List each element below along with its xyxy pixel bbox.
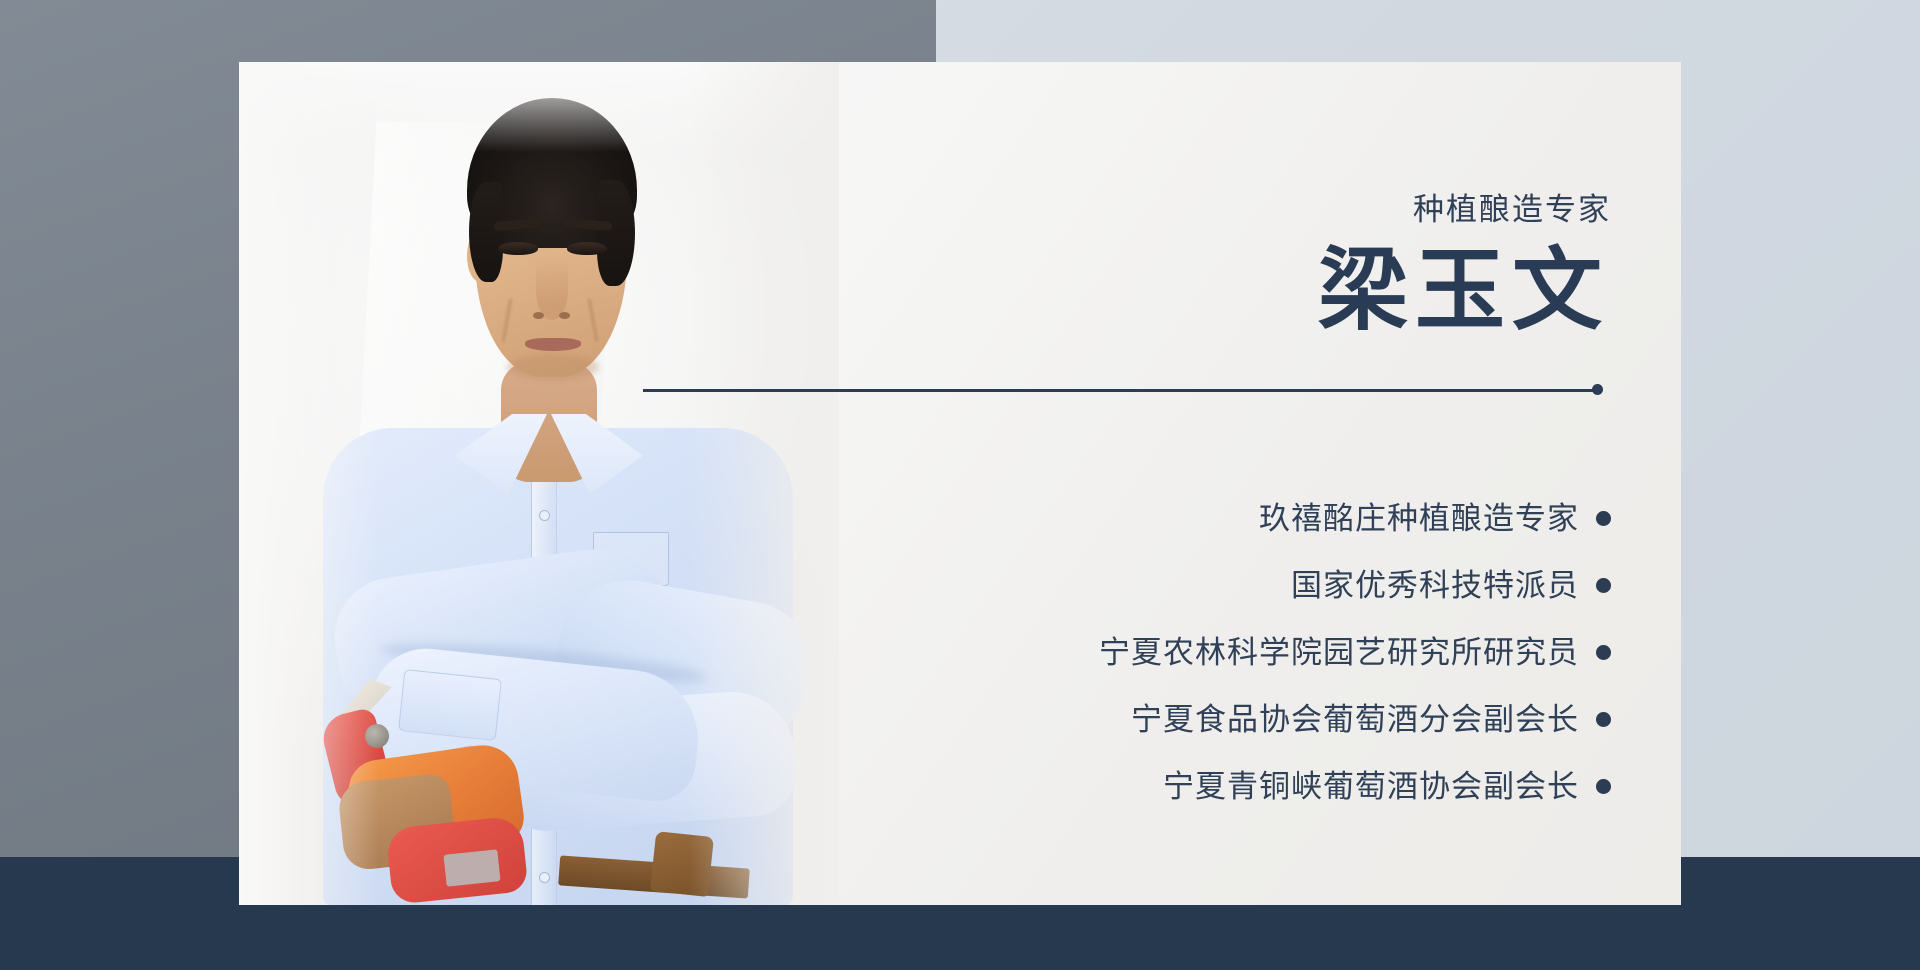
chin-shadow xyxy=(507,354,599,380)
expert-name: 梁玉文 xyxy=(1318,247,1611,337)
portrait-photo-container xyxy=(239,62,839,905)
expert-subtitle: 种植酿造专家 xyxy=(1318,194,1611,225)
portrait-photo xyxy=(239,62,839,905)
eye-right xyxy=(567,242,607,255)
hair-side-left xyxy=(469,182,503,282)
list-item: 国家优秀科技特派员 xyxy=(871,563,1611,608)
credential-text: 国家优秀科技特派员 xyxy=(1291,570,1579,601)
bullet-dot-icon xyxy=(1596,511,1611,526)
list-item: 宁夏农林科学院园艺研究所研究员 xyxy=(871,630,1611,675)
mouth xyxy=(525,338,581,351)
nose xyxy=(536,258,568,320)
shirt-button xyxy=(539,872,550,883)
profile-banner: 种植酿造专家 梁玉文 玖禧酩庄种植酿造专家 国家优秀科技特派员 宁夏农林科学院园… xyxy=(0,0,1920,970)
divider-line xyxy=(643,389,1598,392)
credential-text: 宁夏食品协会葡萄酒分会副会长 xyxy=(1131,704,1579,735)
bullet-dot-icon xyxy=(1596,712,1611,727)
shirt-cuff xyxy=(398,669,502,741)
eye-left xyxy=(498,242,538,255)
bullet-dot-icon xyxy=(1596,779,1611,794)
list-item: 玖禧酩庄种植酿造专家 xyxy=(871,496,1611,541)
photo-fade-right xyxy=(689,62,839,905)
bullet-dot-icon xyxy=(1596,578,1611,593)
nostril-left xyxy=(533,312,544,319)
divider xyxy=(643,384,1603,396)
list-item: 宁夏青铜峡葡萄酒协会副会长 xyxy=(871,764,1611,809)
bullet-dot-icon xyxy=(1596,645,1611,660)
credential-text: 宁夏农林科学院园艺研究所研究员 xyxy=(1099,637,1579,668)
nostril-right xyxy=(559,312,570,319)
hair-side-right xyxy=(597,180,635,286)
photo-fade-left xyxy=(239,62,379,905)
credential-text: 玖禧酩庄种植酿造专家 xyxy=(1259,503,1579,534)
pruning-shears-label xyxy=(443,849,500,886)
divider-end-dot-icon xyxy=(1592,384,1603,395)
credential-text: 宁夏青铜峡葡萄酒协会副会长 xyxy=(1163,771,1579,802)
title-block: 种植酿造专家 梁玉文 xyxy=(1318,194,1611,337)
shirt-button xyxy=(539,510,550,521)
credentials-list: 玖禧酩庄种植酿造专家 国家优秀科技特派员 宁夏农林科学院园艺研究所研究员 宁夏食… xyxy=(871,496,1611,809)
list-item: 宁夏食品协会葡萄酒分会副会长 xyxy=(871,697,1611,742)
profile-card: 种植酿造专家 梁玉文 玖禧酩庄种植酿造专家 国家优秀科技特派员 宁夏农林科学院园… xyxy=(239,62,1681,905)
